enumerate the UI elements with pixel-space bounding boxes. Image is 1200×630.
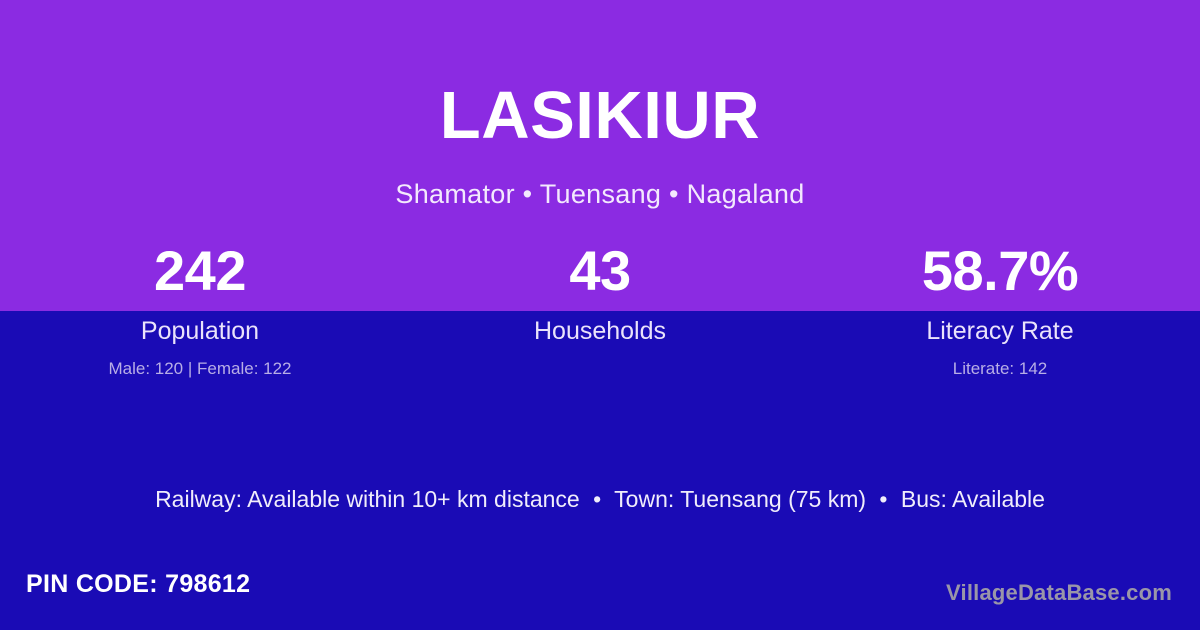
stat-label: Households bbox=[400, 317, 800, 346]
amenity-separator: • bbox=[872, 486, 894, 512]
stat-label: Population bbox=[0, 317, 400, 346]
amenity-railway: Railway: Available within 10+ km distanc… bbox=[155, 486, 580, 512]
site-brand: VillageDataBase.com bbox=[946, 580, 1172, 606]
stat-label: Literacy Rate bbox=[800, 317, 1200, 346]
card-content: LASIKIUR Shamator • Tuensang • Nagaland … bbox=[0, 0, 1200, 630]
stat-sublabel: Literate: 142 bbox=[800, 359, 1200, 379]
stat-sublabel: Male: 120 | Female: 122 bbox=[0, 359, 400, 379]
amenity-bus: Bus: Available bbox=[901, 486, 1045, 512]
pin-code: PIN CODE: 798612 bbox=[26, 570, 250, 599]
stat-literacy-rate: 58.7% Literacy Rate Literate: 142 bbox=[800, 243, 1200, 379]
breadcrumb: Shamator • Tuensang • Nagaland bbox=[0, 149, 1200, 210]
stat-value: 242 bbox=[0, 243, 400, 299]
card-footer: PIN CODE: 798612 VillageDataBase.com bbox=[0, 558, 1200, 630]
card-header: LASIKIUR Shamator • Tuensang • Nagaland bbox=[0, 82, 1200, 210]
stat-households: 43 Households bbox=[400, 243, 800, 379]
amenity-separator: • bbox=[586, 486, 608, 512]
stat-value: 58.7% bbox=[800, 243, 1200, 299]
stat-sublabel bbox=[400, 359, 800, 379]
page-title: LASIKIUR bbox=[0, 82, 1200, 149]
amenities-line: Railway: Available within 10+ km distanc… bbox=[0, 486, 1200, 513]
village-info-card: LASIKIUR Shamator • Tuensang • Nagaland … bbox=[0, 0, 1200, 630]
stats-row: 242 Population Male: 120 | Female: 122 4… bbox=[0, 243, 1200, 379]
stat-population: 242 Population Male: 120 | Female: 122 bbox=[0, 243, 400, 379]
stat-value: 43 bbox=[400, 243, 800, 299]
amenity-town: Town: Tuensang (75 km) bbox=[614, 486, 866, 512]
